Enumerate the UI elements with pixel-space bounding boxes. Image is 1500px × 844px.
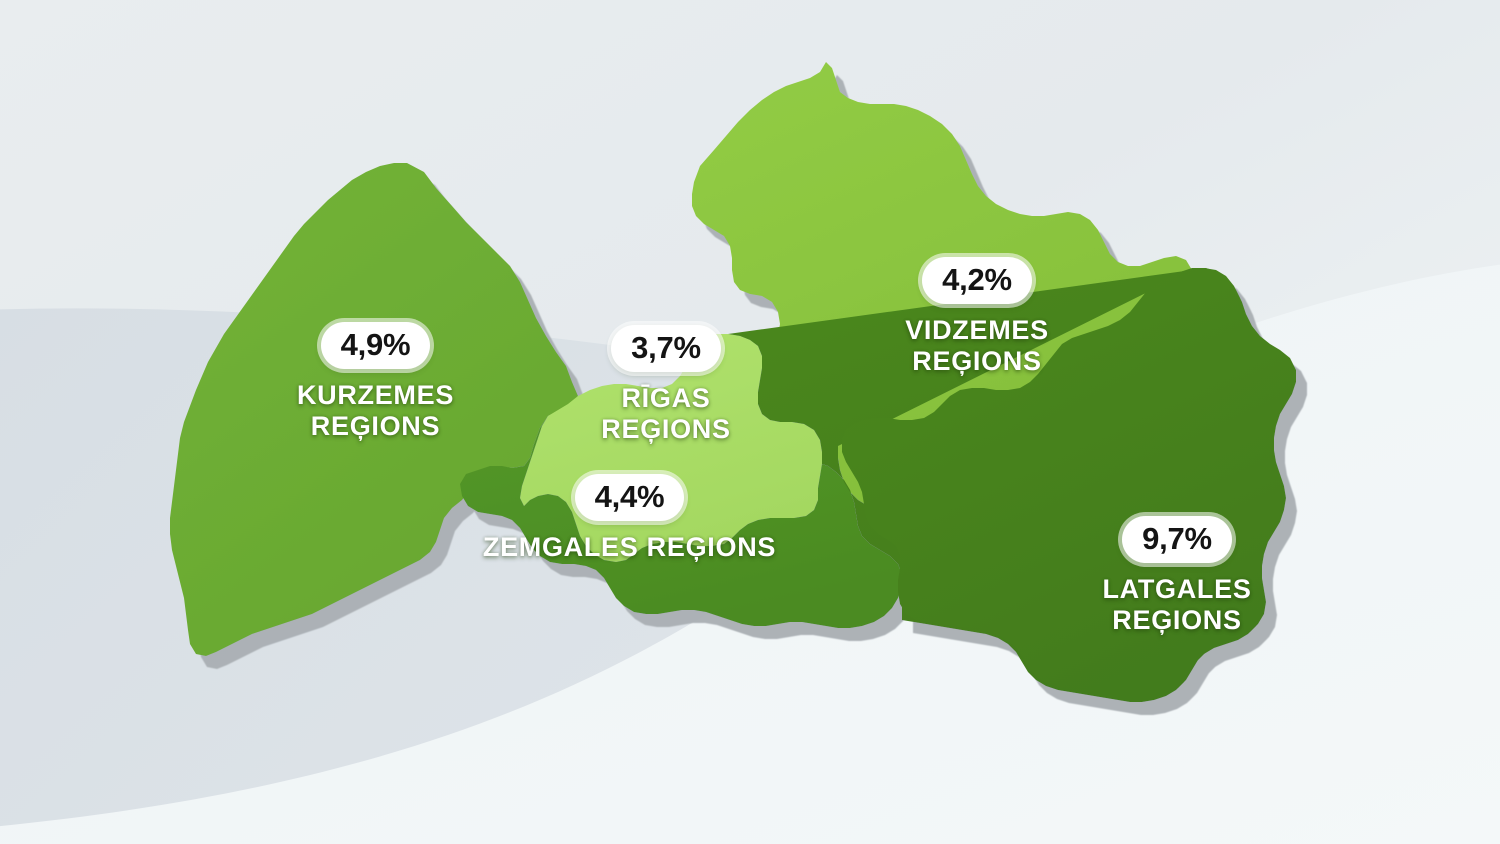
map-infographic: 4,9% KURZEMES REĢIONS 3,7% RĪGAS REĢIONS… bbox=[0, 0, 1500, 844]
region-label-riga[interactable]: 3,7% RĪGAS REĢIONS bbox=[566, 325, 766, 445]
value-text-riga: 3,7% bbox=[631, 332, 701, 363]
region-name-vidzeme: VIDZEMES REĢIONS bbox=[905, 315, 1049, 377]
region-label-zemgale[interactable]: 4,4% ZEMGALES REĢIONS bbox=[452, 474, 807, 563]
value-badge-riga[interactable]: 3,7% bbox=[611, 325, 721, 372]
value-badge-zemgale[interactable]: 4,4% bbox=[575, 474, 685, 521]
region-label-kurzeme[interactable]: 4,9% KURZEMES REĢIONS bbox=[248, 322, 503, 442]
value-badge-kurzeme[interactable]: 4,9% bbox=[321, 322, 431, 369]
region-name-latgale: LATGALES REĢIONS bbox=[1102, 574, 1251, 636]
value-text-latgale: 9,7% bbox=[1142, 523, 1212, 554]
value-badge-latgale[interactable]: 9,7% bbox=[1122, 516, 1232, 563]
value-badge-vidzeme[interactable]: 4,2% bbox=[922, 257, 1032, 304]
region-name-zemgale: ZEMGALES REĢIONS bbox=[483, 532, 776, 563]
region-name-riga: RĪGAS REĢIONS bbox=[601, 383, 730, 445]
value-text-zemgale: 4,4% bbox=[595, 481, 665, 512]
value-text-vidzeme: 4,2% bbox=[942, 264, 1012, 295]
region-label-vidzeme[interactable]: 4,2% VIDZEMES REĢIONS bbox=[855, 257, 1099, 377]
region-name-kurzeme: KURZEMES REĢIONS bbox=[297, 380, 454, 442]
value-text-kurzeme: 4,9% bbox=[341, 329, 411, 360]
region-label-latgale[interactable]: 9,7% LATGALES REĢIONS bbox=[1043, 516, 1311, 636]
